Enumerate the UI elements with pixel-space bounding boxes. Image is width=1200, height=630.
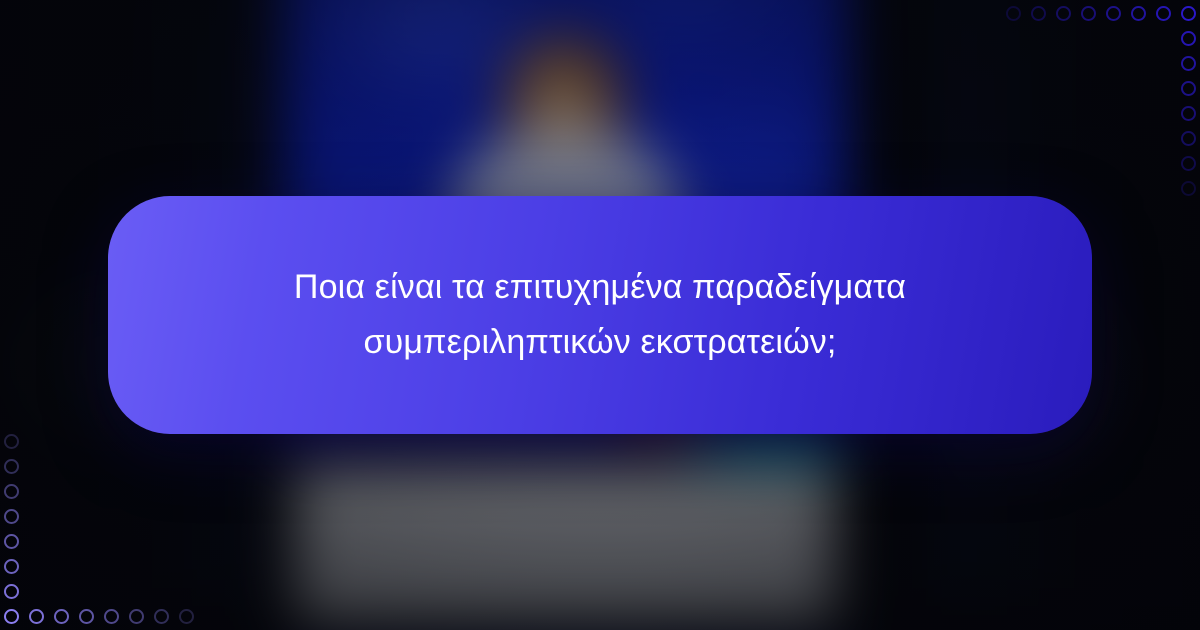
social-card-canvas: Ποια είναι τα επιτυχημένα παραδείγματα σ… [0, 0, 1200, 630]
decor-dots-top-right [980, 0, 1200, 210]
decor-dot [1031, 6, 1046, 21]
decor-dot [4, 559, 19, 574]
decor-dot [1181, 181, 1196, 196]
decor-dot [1181, 56, 1196, 71]
decor-dot [104, 609, 119, 624]
decor-dot [29, 609, 44, 624]
decor-dot [1106, 6, 1121, 21]
decor-dot [1181, 81, 1196, 96]
quote-card: Ποια είναι τα επιτυχημένα παραδείγματα σ… [108, 196, 1092, 434]
decor-dots-bottom-left [0, 415, 220, 630]
decor-dot [4, 534, 19, 549]
decor-dot [129, 609, 144, 624]
decor-dot [1131, 6, 1146, 21]
decor-dot [1156, 6, 1171, 21]
decor-dot [1181, 131, 1196, 146]
decor-dot [4, 584, 19, 599]
decor-dot [1006, 6, 1021, 21]
decor-dot [4, 459, 19, 474]
decor-dot [54, 609, 69, 624]
decor-dot [1181, 106, 1196, 121]
decor-dot [154, 609, 169, 624]
decor-dot [1056, 6, 1071, 21]
decor-dot [79, 609, 94, 624]
decor-dot [1181, 31, 1196, 46]
decor-dot [179, 609, 194, 624]
decor-dot [4, 509, 19, 524]
decor-dot [4, 609, 19, 624]
quote-text: Ποια είναι τα επιτυχημένα παραδείγματα σ… [220, 260, 980, 370]
decor-dot [4, 434, 19, 449]
decor-dot [4, 484, 19, 499]
decor-dot [1081, 6, 1096, 21]
decor-dot [1181, 156, 1196, 171]
decor-dot [1181, 6, 1196, 21]
